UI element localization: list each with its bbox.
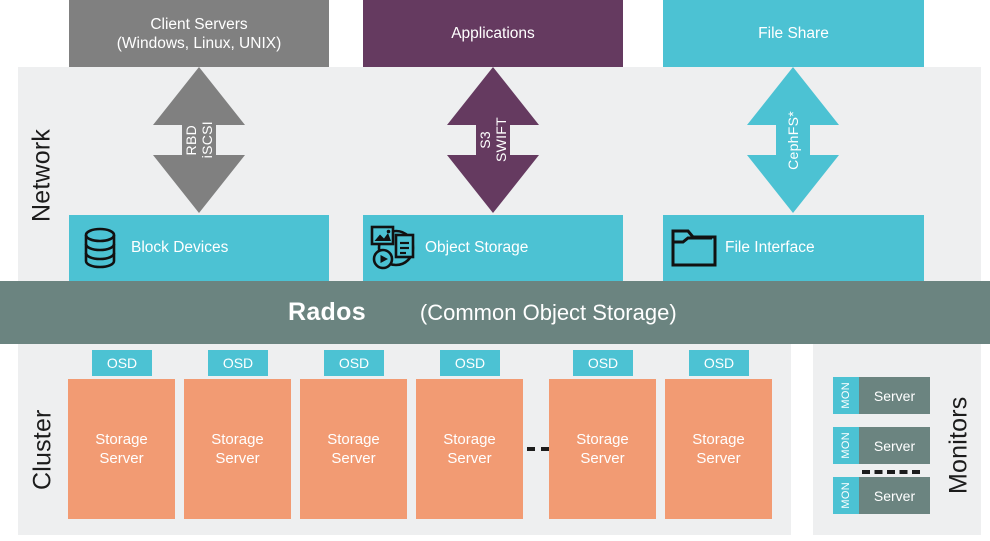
storage-server-line1: Storage (211, 430, 264, 449)
top-box-client-servers[interactable]: Client Servers (Windows, Linux, UNIX) (69, 0, 329, 67)
storage-server-line2: Server (696, 449, 740, 468)
cluster-side-label: Cluster (22, 380, 64, 520)
osd-tab[interactable]: OSD (208, 350, 268, 376)
arrow-cephfs: CephFS* (747, 67, 839, 213)
storage-server[interactable]: Storage Server (665, 379, 772, 519)
storage-server-line1: Storage (692, 430, 745, 449)
storage-server-line2: Server (580, 449, 624, 468)
monitor-server-label: Server (859, 427, 930, 464)
mon-tag: MON (833, 377, 859, 414)
osd-tab[interactable]: OSD (440, 350, 500, 376)
osd-tab[interactable]: OSD (92, 350, 152, 376)
storage-server-line2: Server (447, 449, 491, 468)
network-side-label: Network (22, 80, 62, 270)
monitor-server[interactable]: MON Server (833, 427, 930, 464)
storage-server-line2: Server (99, 449, 143, 468)
osd-label: OSD (704, 355, 734, 371)
arrow-rbd-iscsi: RBD iSCSI (153, 67, 245, 213)
rados-name: Rados (288, 298, 366, 327)
rados-band: Rados (Common Object Storage) (0, 281, 990, 344)
storage-server[interactable]: Storage Server (184, 379, 291, 519)
rados-subtitle: (Common Object Storage) (420, 300, 677, 326)
osd-label: OSD (588, 355, 618, 371)
mon-tag: MON (833, 427, 859, 464)
storage-server[interactable]: Storage Server (416, 379, 523, 519)
osd-label: OSD (455, 355, 485, 371)
mon-tag: MON (833, 477, 859, 514)
storage-server-line1: Storage (576, 430, 629, 449)
mon-tag-label: MON (840, 432, 852, 459)
osd-label: OSD (223, 355, 253, 371)
folder-icon (663, 228, 725, 268)
osd-tab[interactable]: OSD (689, 350, 749, 376)
storage-server[interactable]: Storage Server (300, 379, 407, 519)
storage-server[interactable]: Storage Server (549, 379, 656, 519)
cluster-continuation-dashes (527, 447, 549, 451)
monitors-side-label: Monitors (940, 375, 978, 515)
monitor-server[interactable]: MON Server (833, 477, 930, 514)
storage-server-line1: Storage (327, 430, 380, 449)
osd-tab[interactable]: OSD (573, 350, 633, 376)
osd-label: OSD (339, 355, 369, 371)
storage-server-line2: Server (215, 449, 259, 468)
interface-box-block-devices[interactable]: Block Devices (69, 215, 329, 281)
monitor-server[interactable]: MON Server (833, 377, 930, 414)
client-servers-line1: Client Servers (150, 15, 247, 34)
file-interface-label: File Interface (725, 239, 924, 257)
osd-label: OSD (107, 355, 137, 371)
block-devices-label: Block Devices (131, 239, 329, 257)
storage-server-line1: Storage (95, 430, 148, 449)
database-cylinder-icon (69, 227, 131, 269)
file-share-label: File Share (758, 24, 829, 43)
monitors-continuation-dashes (862, 470, 920, 474)
storage-server-line2: Server (331, 449, 375, 468)
osd-tab[interactable]: OSD (324, 350, 384, 376)
arrow-s3-swift: S3 SWIFT (447, 67, 539, 213)
client-servers-line2: (Windows, Linux, UNIX) (117, 34, 282, 53)
top-box-file-share[interactable]: File Share (663, 0, 924, 67)
storage-server-line1: Storage (443, 430, 496, 449)
object-storage-label: Object Storage (425, 239, 623, 257)
applications-label: Applications (451, 24, 535, 43)
monitor-server-label: Server (859, 477, 930, 514)
interface-box-file-interface[interactable]: File Interface (663, 215, 924, 281)
top-box-applications[interactable]: Applications (363, 0, 623, 67)
mon-tag-label: MON (840, 482, 852, 509)
storage-server[interactable]: Storage Server (68, 379, 175, 519)
mon-tag-label: MON (840, 382, 852, 409)
object-media-icon (363, 225, 425, 271)
monitor-server-label: Server (859, 377, 930, 414)
interface-box-object-storage[interactable]: Object Storage (363, 215, 623, 281)
